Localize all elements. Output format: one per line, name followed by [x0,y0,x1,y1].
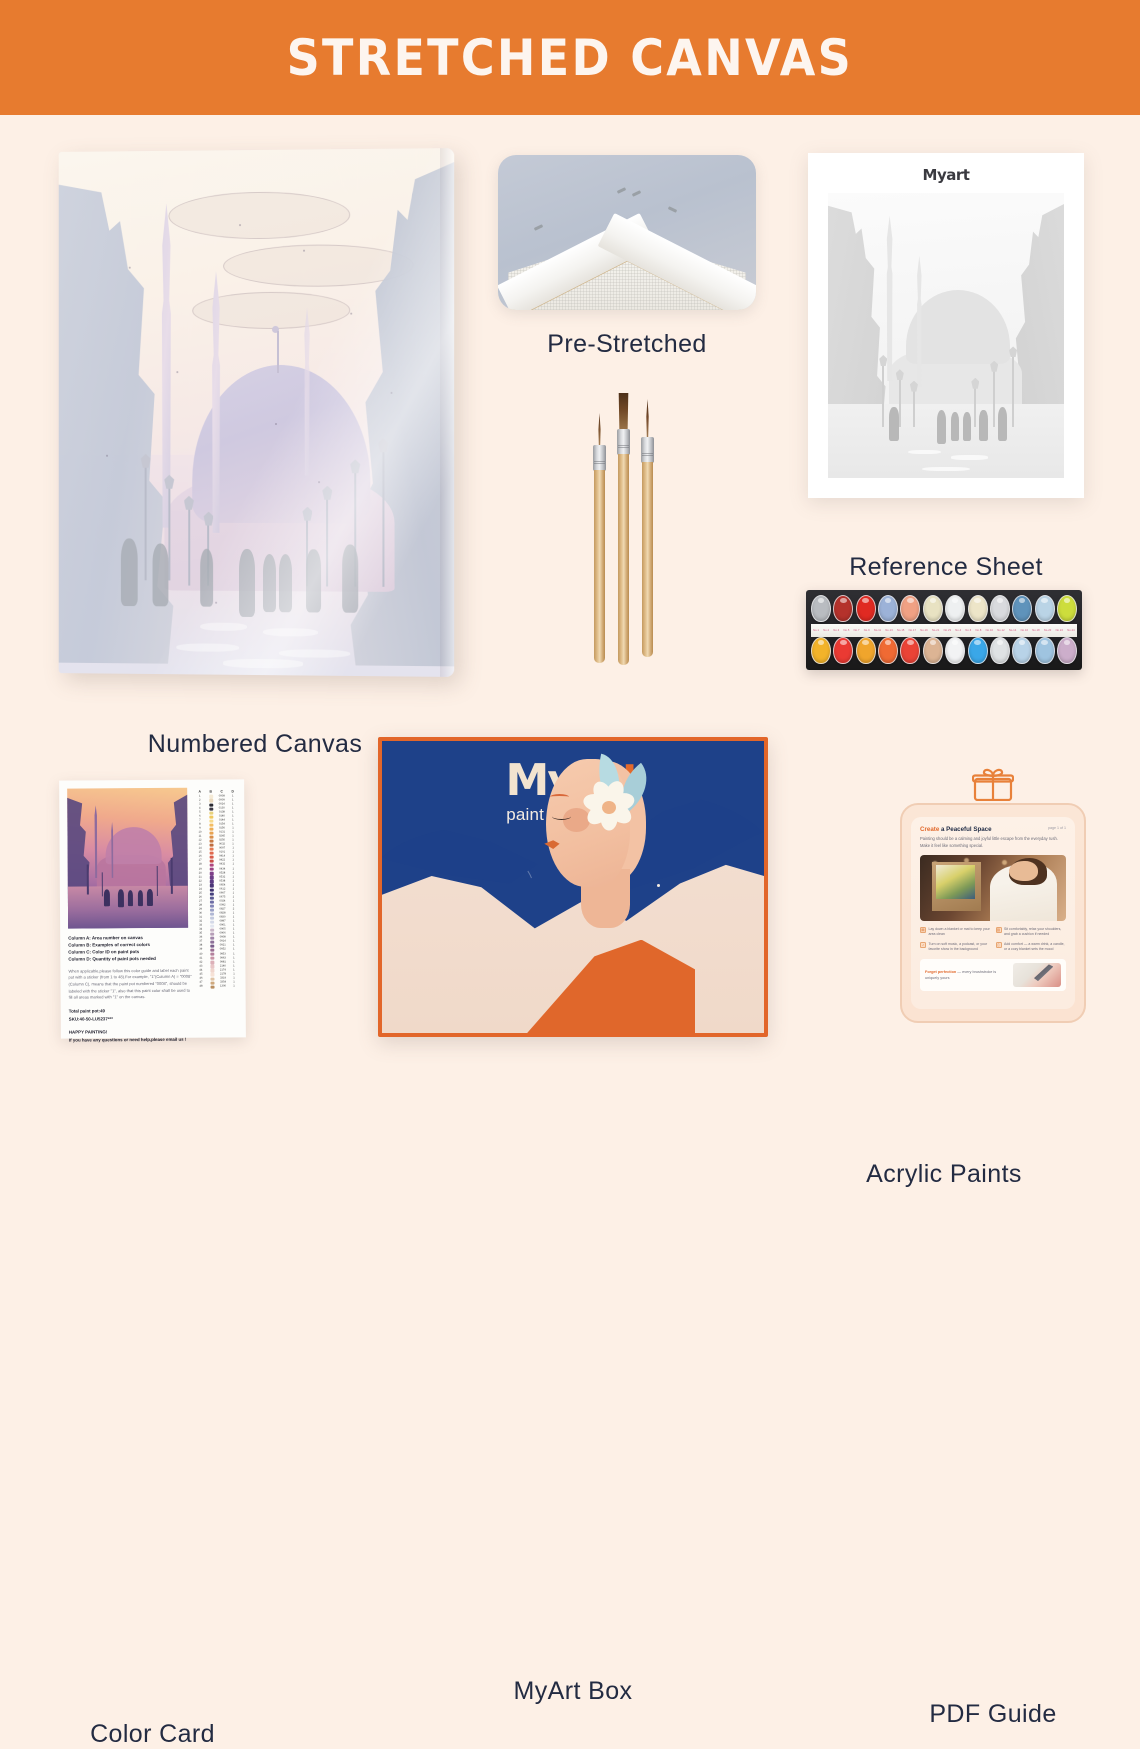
paint-pot [833,637,853,664]
legend-column-d: Column D: Quantity of paint pots needed [68,956,192,964]
street-lamp [188,507,190,586]
paint-code: No.1 [813,629,819,632]
color-id: 0981 [217,961,228,964]
mosque-dome [106,827,161,864]
note-text: Forget perfection — every brushstroke is… [925,969,1009,981]
myart-logo: Myart [808,166,1084,184]
color-card-label: Color Card [60,1720,245,1749]
street-lamp [899,378,901,426]
phone-icon: ▤ [920,927,926,933]
myart-box-image: Myart paint by numbers [378,737,768,1037]
table-column-header: A [194,790,205,794]
path-stone [223,659,302,668]
color-swatch [206,908,217,911]
pdf-guide-tablet: page 1 of 1 Create a Peaceful Space Pain… [900,803,1086,1023]
street-lamp [974,387,976,427]
color-swatch [206,884,217,887]
instruction-paragraph: When applicable,please follow this color… [68,968,192,1002]
page-title: STRETCHED CANVAS [287,29,853,87]
color-swatch [206,977,217,980]
color-swatch [206,864,217,867]
color-swatch [205,799,216,802]
candle-icon: ▯ [996,942,1002,948]
pot-quantity: 1 [228,872,239,875]
guide-tip: ▥Sit comfortably, relax your shoulders, … [996,927,1067,938]
pot-quantity: 1 [228,961,239,964]
guide-tip-text: Turn on soft music, a podcast, or your f… [929,942,991,953]
acrylic-paints-item: No.1No.2No.3No.5No.7No.9No.11No.13No.15N… [806,590,1082,670]
color-card-item: ABCD 10008120009130024140130150138160140… [60,780,245,1038]
person-silhouette [306,549,320,612]
person-silhouette [137,890,142,905]
minaret [885,216,895,381]
paint-pot [1035,637,1055,664]
paint-pot [1035,595,1055,622]
pot-quantity: 1 [228,953,239,956]
eyebrow [550,794,569,800]
brush-ferrule [641,437,654,463]
box-front-face: Myart paint by numbers [382,741,764,1033]
brush-icon [1033,964,1053,981]
table-column-header: D [227,789,238,793]
guide-title-rest: a Peaceful Space [939,826,991,833]
reference-sheet-label: Reference Sheet [808,553,1084,582]
color-swatch [206,916,217,919]
color-swatch [206,868,217,871]
color-swatch [206,969,217,972]
pot-quantity: 1 [227,795,238,798]
paint-pot [811,595,831,622]
street-lamp [171,858,173,894]
table-row: 4813001 [196,985,240,989]
guide-photo [920,855,1066,921]
area-number: 39 [195,949,206,952]
person-silhouette [951,412,959,441]
color-swatch [206,937,217,940]
brush-bristles [645,399,651,441]
sku-code: SKU:40-50-LU5237*** [69,1015,193,1023]
street-lamp [326,497,328,587]
street-lamp [882,364,884,427]
color-swatch [206,912,217,915]
brush-bristles [618,393,630,433]
color-swatch [206,945,217,948]
person-silhouette [342,544,358,613]
color-swatch [205,811,216,814]
paint-code: No.7 [854,629,860,632]
table-column-header: C [216,789,227,793]
color-swatch [205,819,216,822]
color-swatch [206,949,217,952]
pre-stretched-item: Pre-Stretched [498,155,756,310]
guide-title-highlight: Create [920,826,939,833]
color-swatch [206,924,217,927]
color-id: 2140 [217,965,228,968]
street-lamp [382,449,384,586]
paint-code: No.21 [932,629,939,632]
guide-tip-text: Add comfort — a warm drink, a candle, or… [1004,942,1066,953]
paint-code: No.18 [1032,629,1039,632]
paint-pot [811,637,831,664]
staple [616,187,625,194]
street-lamp [993,370,995,427]
color-id: 0953 [217,953,228,956]
street-lamp [101,872,103,896]
brush-handle [618,454,629,665]
paint-code: No.15 [897,629,904,632]
staple [668,206,677,213]
color-swatch [206,852,217,855]
color-card-table-header: ABCD [194,789,238,793]
person-silhouette [998,407,1007,441]
path-stone [200,622,247,631]
path-stone [279,649,350,658]
street-lamp [156,866,158,895]
paint-code: No.6 [965,629,971,632]
paint-code: No.22 [1056,629,1063,632]
color-swatch [206,888,217,891]
person-silhouette [889,407,898,441]
guide-tips-list: ▤Lay down a blanket or mat to keep your … [920,927,1066,953]
color-id: 0008 [216,795,227,798]
person-silhouette [118,889,124,907]
guide-description: Painting should be a calming and joyful … [920,836,1066,850]
area-number: 19 [195,868,206,871]
paint-code: No.24 [1067,629,1074,632]
paint-code: No.19 [920,629,927,632]
path-stone [922,467,969,472]
paint-pot [878,637,898,664]
painting-on-easel [936,865,975,899]
paint-code: No.17 [909,629,916,632]
person-silhouette [121,538,137,606]
area-number: 20 [195,872,206,875]
color-swatch [206,876,217,879]
color-card-artwork [67,788,188,929]
street-lamp [913,390,915,427]
paint-pot [900,595,920,622]
color-card-image: ABCD 10008120009130024140130150138160140… [59,779,246,1038]
color-swatch [206,904,217,907]
page-header: STRETCHED CANVAS [0,0,1140,115]
myart-box-item: Myart paint by numbers [378,737,768,1037]
path-stone [908,450,941,455]
paint-pot [878,595,898,622]
brush-ferrule [617,429,630,455]
color-swatch [205,795,216,798]
color-swatch [206,839,217,842]
paint-code: No.5 [843,629,849,632]
paint-pot [923,637,943,664]
dome-finial [277,331,279,373]
paint-pot [1057,637,1077,664]
person-silhouette [104,889,110,906]
guide-tip: ▤Lay down a blanket or mat to keep your … [920,927,991,938]
area-number: 42 [195,961,206,964]
color-id: 0532 [217,876,228,879]
color-swatch [206,872,217,875]
paint-code: No.9 [864,629,870,632]
color-swatch [206,957,217,960]
paint-pot [856,637,876,664]
path-stone [176,643,239,652]
paint-pot [968,637,988,664]
path-stone [263,628,319,637]
person-silhouette [263,554,276,612]
area-number: 41 [195,957,206,960]
brush-ferrule [593,445,606,471]
numbered-canvas-image [59,148,454,677]
street-lamp [1012,355,1014,426]
color-swatch [205,823,216,826]
color-card-table-body: 1000812000913002414013015013816014017014… [194,794,239,989]
note-highlight: Forget perfection [925,970,956,974]
person-silhouette [147,889,153,906]
person-silhouette [239,549,255,617]
canvas-wrap-edge [440,148,454,677]
color-swatch [207,985,218,988]
paint-code: No.4 [955,629,961,632]
reference-line-art [828,193,1064,478]
color-id: 0963 [217,957,228,960]
person-silhouette [937,410,946,444]
path-stone [951,455,989,460]
paint-code: No.13 [885,629,892,632]
paint-code: No.10 [986,629,993,632]
paint-pot [856,595,876,622]
color-swatch [205,815,216,818]
paint-pot [833,595,853,622]
area-number: 18 [195,864,206,867]
guide-note: Forget perfection — every brushstroke is… [920,959,1066,991]
closed-eye [552,813,571,820]
paint-pot-row-top [811,595,1077,623]
color-id: 1300 [218,985,229,988]
color-swatch [205,835,216,838]
color-id: 0952 [217,949,228,952]
paint-code: No.20 [1044,629,1051,632]
brush-round-thin [594,413,605,663]
brush-bristles [597,413,602,449]
page-number: page 1 of 1 [1048,826,1066,830]
paint-code: No.23 [944,629,951,632]
guide-tip-text: Lay down a blanket or mat to keep your a… [929,927,991,938]
daisy-flower [584,782,634,832]
color-swatch [205,803,216,806]
color-swatch [207,981,218,984]
person-silhouette [963,412,971,441]
color-swatch [206,961,217,964]
street-lamp [145,465,147,580]
color-swatch [206,920,217,923]
pre-stretched-label: Pre-Stretched [498,330,756,359]
brush-flat [618,393,629,665]
paint-pot [945,637,965,664]
pdf-guide-label: PDF Guide [900,1700,1086,1729]
support-text: If you have any questions or need help,p… [69,1036,193,1044]
flower-center [602,801,616,814]
pot-quantity: 1 [228,957,239,960]
guide-tip: ▯Add comfort — a warm drink, a candle, o… [996,942,1067,953]
color-swatch [206,880,217,883]
color-swatch [206,973,217,976]
paint-pot [1057,595,1077,622]
area-number: 22 [195,880,206,883]
person-silhouette [200,549,213,607]
paint-pot [1012,637,1032,664]
music-icon: ♪ [920,942,926,948]
paint-pot [968,595,988,622]
pot-quantity: 1 [228,864,239,867]
person-silhouette [128,890,133,905]
area-number: 1 [194,795,205,798]
area-number: 43 [195,965,206,968]
color-swatch [206,941,217,944]
paint-pot [900,637,920,664]
acrylic-paints-label: Acrylic Paints [806,1160,1082,1189]
color-card-table: ABCD 10008120009130024140130150138160140… [194,789,239,989]
person-silhouette [979,410,987,441]
pot-quantity: 1 [228,949,239,952]
paint-pot [945,595,965,622]
paint-pot [923,595,943,622]
pot-quantity: 1 [228,965,239,968]
pot-quantity: 1 [228,876,239,879]
reference-sheet-image: Myart [808,153,1084,498]
color-swatch [205,827,216,830]
pdf-guide-item: page 1 of 1 Create a Peaceful Space Pain… [900,775,1086,1023]
paint-pot [990,595,1010,622]
color-swatch [205,807,216,810]
color-id: 0432 [217,864,228,867]
pot-quantity: 1 [228,880,239,883]
happy-painting-text: HAPPY PAINTING! [69,1027,193,1035]
street-lamp [168,486,170,580]
person-silhouette [153,543,169,606]
paint-code: No.11 [874,629,881,632]
color-swatch [206,900,217,903]
color-id: 0528 [217,872,228,875]
color-id: 0538 [217,880,228,883]
guide-tip-text: Sit comfortably, relax your shoulders, a… [1004,927,1066,938]
brush-handle [642,462,653,657]
gift-icon [972,767,1014,801]
paint-tray: No.1No.2No.3No.5No.7No.9No.11No.13No.15N… [806,590,1082,670]
paint-code: No.8 [976,629,982,632]
paint-pot [1012,595,1032,622]
paint-pot-row-bottom [811,637,1077,665]
myart-box-label: MyArt Box [378,1677,768,1706]
staple [534,224,543,231]
color-swatch [205,831,216,834]
brush-handle [594,470,605,663]
color-swatch [206,965,217,968]
brushes-item: Brushes [572,385,682,675]
color-swatch [206,892,217,895]
paint-code: No.2 [823,629,829,632]
person-head [1009,861,1038,881]
area-number: 48 [196,985,207,988]
color-swatch [206,860,217,863]
color-swatch [206,929,217,932]
note-thumbnail [1013,963,1061,987]
area-number: 40 [195,953,206,956]
brush-round-medium [642,399,653,657]
color-swatch [206,896,217,899]
color-id: 0434 [217,868,228,871]
paint-label-strip: No.1No.2No.3No.5No.7No.9No.11No.13No.15N… [811,624,1077,637]
pdf-guide-page: page 1 of 1 Create a Peaceful Space Pain… [911,817,1075,1009]
reference-sheet-item: Myart [808,153,1084,498]
numbered-canvas-item: Numbered Canvas [57,150,453,675]
paint-code: No.14 [1009,629,1016,632]
table-column-header: B [205,790,216,794]
street-lamp [87,864,89,895]
paint-codes: No.1No.2No.3No.5No.7No.9No.11No.13No.15N… [811,629,1077,632]
staple [632,190,641,197]
pre-stretched-image [498,155,756,310]
product-feature-grid: Numbered Canvas Pre-Stretched Myart [0,115,1140,1140]
pot-quantity: 1 [229,985,240,988]
total-paint-pot: Total paint pot:49 [69,1006,193,1014]
paint-code: No.16 [1021,629,1028,632]
person-silhouette [279,554,292,612]
color-card-instructions: Column A: Area number on canvas Column B… [68,935,193,1044]
color-swatch [206,844,217,847]
color-swatch [206,856,217,859]
chair-icon: ▥ [996,927,1002,933]
area-number: 21 [195,876,206,879]
color-swatch [206,848,217,851]
paint-code: No.3 [833,629,839,632]
paint-pot [990,637,1010,664]
guide-title: Create a Peaceful Space [920,826,1066,833]
pot-quantity: 1 [228,868,239,871]
paint-code: No.12 [997,629,1004,632]
color-swatch [206,953,217,956]
guide-tip: ♪Turn on soft music, a podcast, or your … [920,942,991,953]
color-swatch [206,933,217,936]
